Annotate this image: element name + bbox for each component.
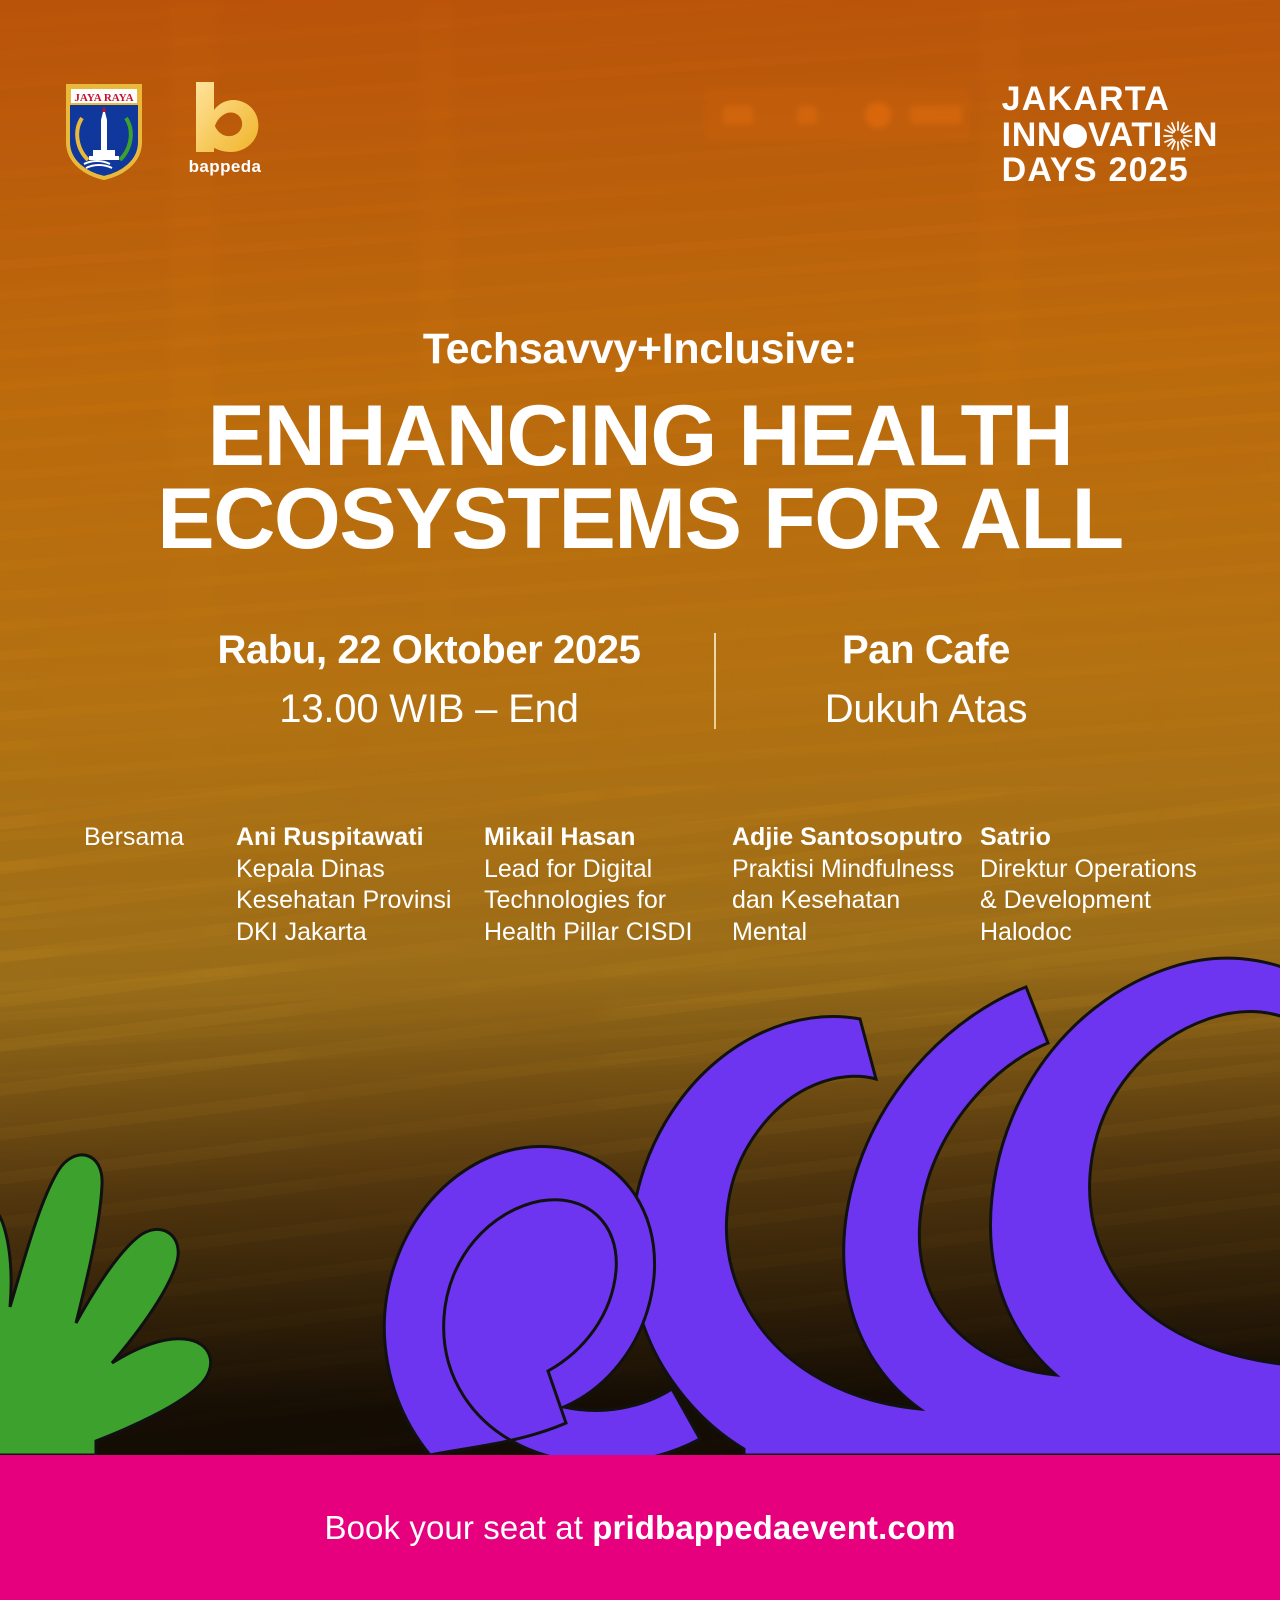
decorative-shapes xyxy=(0,935,1280,1455)
registration-url[interactable]: pridbappedaevent.com xyxy=(592,1509,955,1546)
bappeda-wordmark: bappeda xyxy=(182,157,268,177)
event-details: Rabu, 22 Oktober 2025 13.00 WIB – End Pa… xyxy=(0,627,1280,733)
speaker-role: Direktur Operations & Development Halodo… xyxy=(980,854,1216,949)
svg-text:JAYA RAYA: JAYA RAYA xyxy=(74,92,133,104)
jid-line2-part-a: INN xyxy=(1002,118,1062,154)
bappeda-logo: bappeda xyxy=(182,78,268,186)
filled-circle-o-icon xyxy=(1063,124,1087,148)
logo-group: JAYA RAYA xyxy=(62,78,268,186)
speakers-section: Bersama Ani Ruspitawati Kepala Dinas Kes… xyxy=(84,822,1204,948)
jid-line2-part-b: VATI xyxy=(1088,118,1163,154)
speaker-role: Praktisi Mindfulness dan Kesehatan Menta… xyxy=(732,854,968,949)
jakarta-innovation-days-logo: JAKARTA INN VATI xyxy=(1002,78,1218,189)
event-time: 13.00 WIB – End xyxy=(190,685,668,733)
jid-line-1: JAKARTA xyxy=(1002,82,1218,118)
poster-header: JAYA RAYA xyxy=(0,0,1280,210)
speaker-name: Mikail Hasan xyxy=(484,822,720,854)
headline-block: Techsavvy+Inclusive: ENHANCING HEALTH EC… xyxy=(0,326,1280,560)
starburst-o-icon xyxy=(1163,121,1193,151)
cta-bar: Book your seat at pridbappedaevent.com xyxy=(0,1455,1280,1600)
bappeda-b-mark-icon xyxy=(188,80,262,154)
speaker-card: Adjie Santosoputro Praktisi Mindfulness … xyxy=(732,822,980,948)
title-line-1: ENHANCING HEALTH xyxy=(0,395,1280,478)
event-poster: JAYA RAYA xyxy=(0,0,1280,1600)
purple-ribbon-shape xyxy=(384,958,1280,1455)
speaker-name: Satrio xyxy=(980,822,1216,854)
page-title: ENHANCING HEALTH ECOSYSTEMS FOR ALL xyxy=(0,395,1280,560)
cta-text: Book your seat at pridbappedaevent.com xyxy=(324,1509,955,1547)
event-kicker: Techsavvy+Inclusive: xyxy=(0,326,1280,373)
speaker-role: Kepala Dinas Kesehatan Provinsi DKI Jaka… xyxy=(236,854,472,949)
jid-line2-part-c: N xyxy=(1193,118,1218,154)
jid-line-3: DAYS 2025 xyxy=(1002,153,1218,189)
speaker-card: Ani Ruspitawati Kepala Dinas Kesehatan P… xyxy=(236,822,484,948)
green-leaf-shape xyxy=(0,1155,211,1455)
speaker-columns: Ani Ruspitawati Kepala Dinas Kesehatan P… xyxy=(236,822,1228,948)
jid-line-2: INN VATI xyxy=(1002,118,1218,154)
venue-name: Pan Cafe xyxy=(762,627,1090,673)
event-datetime: Rabu, 22 Oktober 2025 13.00 WIB – End xyxy=(144,627,714,733)
title-line-2: ECOSYSTEMS FOR ALL xyxy=(0,478,1280,561)
event-date: Rabu, 22 Oktober 2025 xyxy=(190,627,668,673)
speaker-name: Adjie Santosoputro xyxy=(732,822,968,854)
dki-jakarta-crest-icon: JAYA RAYA xyxy=(62,78,146,182)
event-location: Pan Cafe Dukuh Atas xyxy=(716,627,1136,733)
speaker-card: Satrio Direktur Operations & Development… xyxy=(980,822,1228,948)
speaker-role: Lead for Digital Technologies for Health… xyxy=(484,854,720,949)
speakers-label: Bersama xyxy=(84,822,236,853)
speaker-card: Mikail Hasan Lead for Digital Technologi… xyxy=(484,822,732,948)
meta-divider xyxy=(714,633,716,729)
cta-prefix: Book your seat at xyxy=(324,1509,592,1546)
speaker-name: Ani Ruspitawati xyxy=(236,822,472,854)
venue-area: Dukuh Atas xyxy=(762,685,1090,733)
